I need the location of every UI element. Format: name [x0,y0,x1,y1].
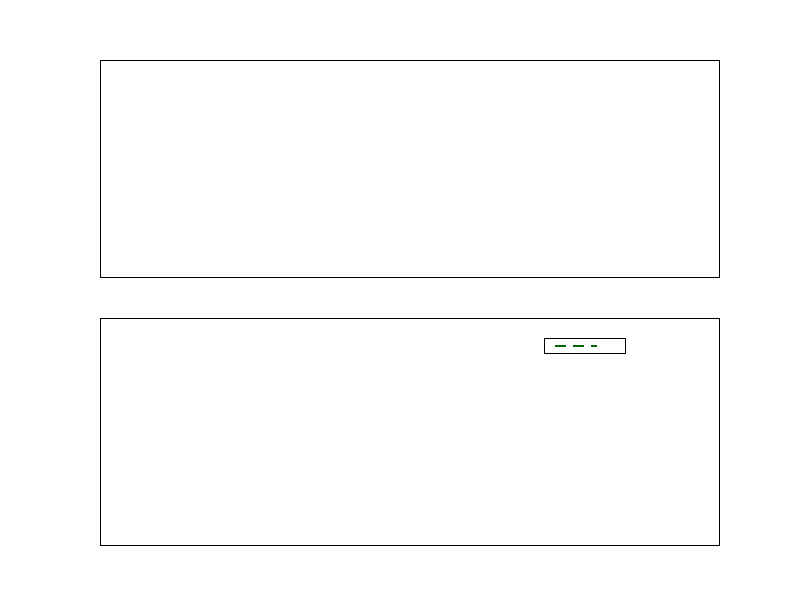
cumulative-histogram-axes [100,318,720,546]
figure-canvas [0,0,800,600]
mag-limit-legend-swatch [555,345,597,347]
cumulative-histogram-plot [101,319,719,545]
differential-histogram-plot [101,61,719,277]
differential-histogram-axes [100,60,720,278]
legend-box [544,338,626,354]
